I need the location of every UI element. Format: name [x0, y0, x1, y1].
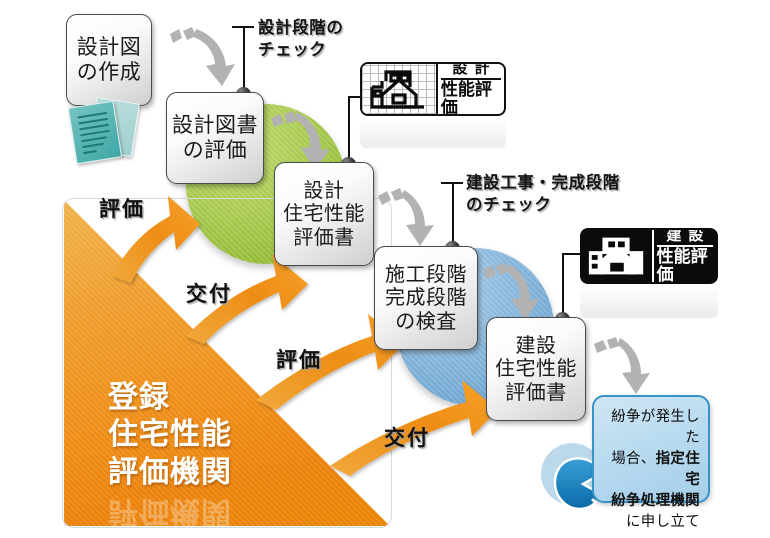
- construction-performance-evaluation-badge: 建設 性能評価: [580, 228, 718, 284]
- badge-house-icon-design: [362, 64, 436, 114]
- dispute-line-2-bold: 指定住宅: [656, 451, 700, 488]
- box-design-doc-eval-line-1: 設計図書: [172, 113, 258, 138]
- gray-arrow-3: [378, 188, 434, 246]
- leader-line-construction-check-horizontal: [441, 182, 463, 184]
- dispute-line-4: に申し立て: [602, 512, 700, 533]
- leader-line-design-check-horizontal: [232, 26, 254, 28]
- callout-construction-check-line-2: のチェック: [466, 194, 620, 216]
- box-design-drawing-line-1: 設計図: [77, 35, 142, 60]
- dispute-line-2: 場合、指定住宅: [602, 449, 700, 491]
- flow-label-evaluation-2: 評価: [276, 344, 322, 374]
- callout-design-check-line-2: チェック: [258, 39, 344, 61]
- flow-label-evaluation-1: 評価: [99, 193, 145, 223]
- box-construction-inspection-line-1: 施工段階: [385, 263, 467, 287]
- badge-construction-top-text: 建設: [657, 228, 713, 247]
- leader-line-design-check-vertical: [243, 26, 245, 94]
- gray-arrow-5: [594, 337, 650, 394]
- callout-design-stage-check: 設計段階の チェック: [258, 17, 344, 62]
- dispute-resolution-box[interactable]: 紛争が発生した 場合、指定住宅 紛争処理機関 に申し立て: [592, 395, 710, 503]
- gray-arrow-4: [483, 263, 539, 320]
- box-construction-inspection[interactable]: 施工段階 完成段階 の検査: [374, 246, 478, 350]
- badge-text-construction: 建設 性能評価: [652, 230, 716, 282]
- house-glyph-design: [366, 67, 432, 111]
- badge-design-top-text: 設計: [441, 62, 501, 80]
- badge-design-bottom-text: 性能評価: [441, 80, 501, 116]
- dispute-line-1: 紛争が発生した: [602, 407, 700, 449]
- callout-construction-check-line-1: 建設工事・完成段階: [466, 172, 620, 194]
- box-construction-inspection-line-3: の検査: [385, 310, 467, 334]
- box-design-report-line-3: 評価書: [283, 226, 365, 250]
- house-glyph-construction: [585, 234, 649, 278]
- documents-icon: [66, 96, 140, 168]
- box-design-document-evaluation[interactable]: 設計図書 の評価: [166, 92, 264, 184]
- dispute-line-2-plain: 場合、: [611, 451, 655, 467]
- housing-performance-evaluation-diagram: 登録 住宅性能 評価機関 評価機関: [0, 0, 770, 538]
- dispute-line-3: 紛争処理機関: [602, 491, 700, 512]
- badge-text-design: 設計 性能評価: [436, 64, 504, 114]
- box-construction-inspection-line-2: 完成段階: [385, 286, 467, 310]
- leader-line-design-report-vertical: [348, 96, 350, 164]
- flow-label-issue-1: 交付: [186, 278, 232, 308]
- flow-label-issue-2: 交付: [384, 422, 430, 452]
- box-construction-housing-performance-report[interactable]: 建設 住宅性能 評価書: [486, 317, 586, 421]
- box-design-drawing[interactable]: 設計図 の作成: [66, 14, 152, 106]
- badge-house-icon-construction: [582, 230, 652, 282]
- badge-construction-bottom-text: 性能評価: [657, 247, 713, 284]
- box-design-report-line-2: 住宅性能: [283, 202, 365, 226]
- box-design-doc-eval-line-2: の評価: [172, 138, 258, 163]
- box-construction-report-line-2: 住宅性能: [495, 357, 577, 381]
- callout-design-check-line-1: 設計段階の: [258, 17, 344, 39]
- leader-line-construction-check-vertical: [452, 182, 454, 248]
- gray-arrow-1: [170, 27, 235, 86]
- box-design-housing-performance-report[interactable]: 設計 住宅性能 評価書: [274, 162, 374, 266]
- callout-construction-stage-check: 建設工事・完成段階 のチェック: [466, 172, 620, 217]
- box-construction-report-line-3: 評価書: [495, 381, 577, 405]
- leader-line-construction-report-vertical: [562, 253, 564, 319]
- box-construction-report-line-1: 建設: [495, 334, 577, 358]
- document-sheet-front: [68, 101, 122, 164]
- box-design-report-line-1: 設計: [283, 179, 365, 203]
- design-performance-evaluation-badge: 設計 性能評価: [360, 62, 506, 116]
- box-design-drawing-line-2: の作成: [77, 60, 142, 85]
